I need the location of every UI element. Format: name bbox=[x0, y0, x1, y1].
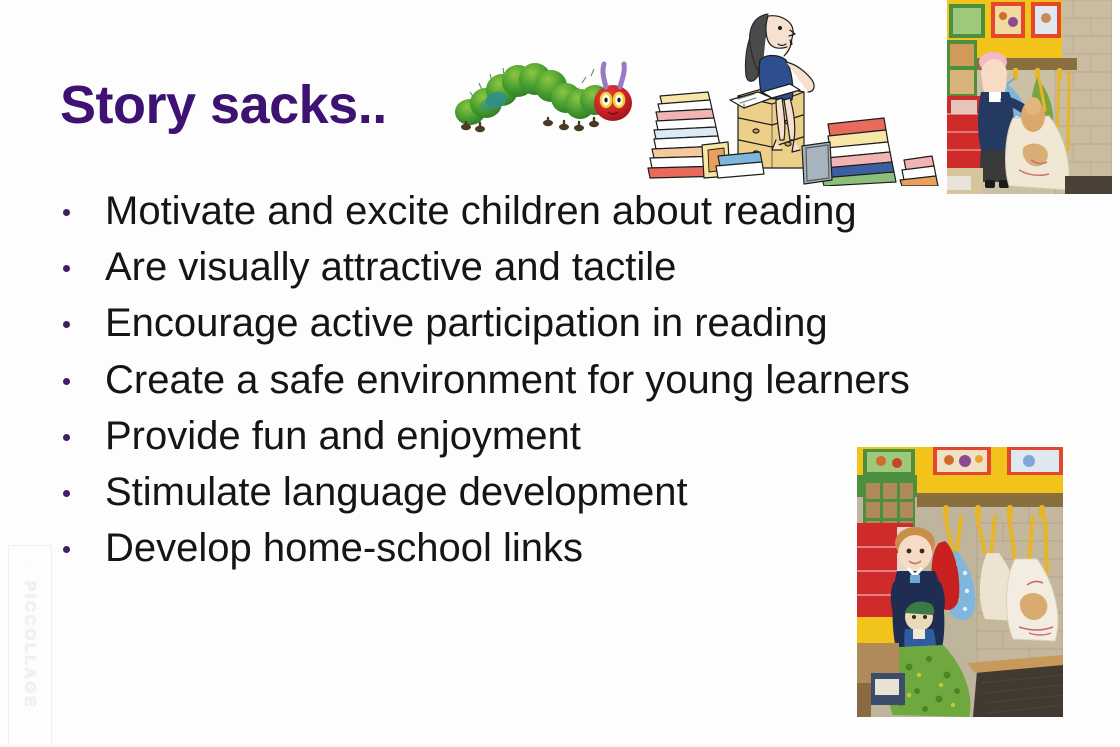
bullet-dot-icon bbox=[63, 209, 70, 216]
list-item: Create a safe environment for young lear… bbox=[55, 359, 935, 402]
list-item: Develop home-school links bbox=[55, 527, 965, 570]
girl-reading-books-illustration bbox=[632, 0, 952, 186]
list-item-label: Stimulate language development bbox=[105, 470, 688, 514]
list-item: Are visually attractive and tactile bbox=[55, 246, 965, 289]
list-item-label: Are visually attractive and tactile bbox=[105, 245, 676, 289]
bullet-dot-icon bbox=[63, 265, 70, 272]
very-hungry-caterpillar-illustration bbox=[452, 48, 642, 143]
piccollage-watermark: PICCOLLAGE bbox=[8, 545, 52, 745]
list-item-label: Provide fun and enjoyment bbox=[105, 414, 581, 458]
list-item-label: Develop home-school links bbox=[105, 526, 583, 570]
photo-child-pink-hat-with-story-sack bbox=[947, 0, 1112, 194]
bullet-dot-icon bbox=[63, 490, 70, 497]
list-item-label: Encourage active participation in readin… bbox=[105, 301, 828, 345]
list-item-label: Create a safe environment for young lear… bbox=[105, 358, 910, 402]
slide-canvas: Story sacks.. bbox=[0, 0, 1120, 747]
bullet-list: Motivate and excite children about readi… bbox=[55, 190, 1055, 583]
list-item: Encourage active participation in readin… bbox=[55, 302, 965, 345]
bullet-dot-icon bbox=[63, 321, 70, 328]
bullet-dot-icon bbox=[63, 546, 70, 553]
page-title: Story sacks.. bbox=[60, 78, 387, 132]
bullet-dot-icon bbox=[63, 434, 70, 441]
bullet-dot-icon bbox=[63, 378, 70, 385]
list-item: Motivate and excite children about readi… bbox=[55, 190, 965, 233]
list-item-label: Motivate and excite children about readi… bbox=[105, 189, 857, 233]
list-item: Stimulate language development bbox=[55, 471, 965, 514]
list-item: Provide fun and enjoyment bbox=[55, 415, 965, 458]
watermark-label: PICCOLLAGE bbox=[22, 581, 39, 709]
